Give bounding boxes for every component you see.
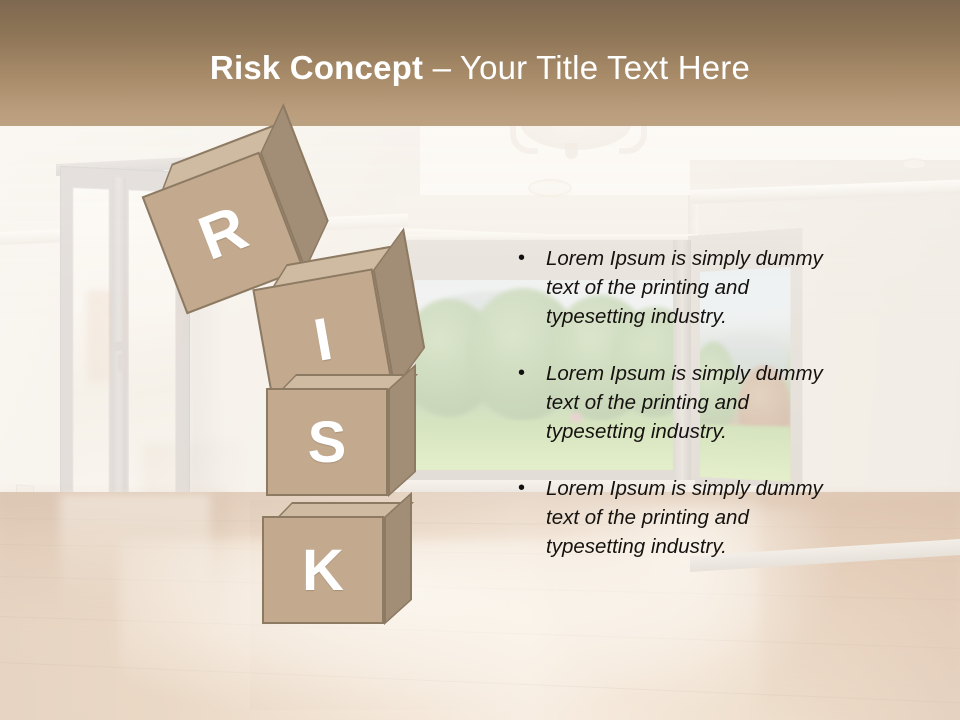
bullet-marker-icon: • — [512, 359, 546, 388]
cube-k-side-face — [384, 492, 412, 625]
cube-s-side-face — [388, 364, 416, 497]
bullet-text: Lorem Ipsum is simply dummy text of the … — [546, 359, 852, 446]
slide: Risk Concept – Your Title Text Here R I … — [0, 0, 960, 720]
bullet-text: Lorem Ipsum is simply dummy text of the … — [546, 244, 852, 331]
bullet-text: Lorem Ipsum is simply dummy text of the … — [546, 474, 852, 561]
cube-k: K — [262, 516, 384, 624]
bullet-list: • Lorem Ipsum is simply dummy text of th… — [512, 244, 852, 589]
list-item: • Lorem Ipsum is simply dummy text of th… — [512, 244, 852, 331]
list-item: • Lorem Ipsum is simply dummy text of th… — [512, 474, 852, 561]
bullet-marker-icon: • — [512, 244, 546, 273]
list-item: • Lorem Ipsum is simply dummy text of th… — [512, 359, 852, 446]
cube-k-letter: K — [262, 516, 384, 624]
cube-s: S — [266, 388, 388, 496]
cube-s-letter: S — [266, 388, 388, 496]
bullet-marker-icon: • — [512, 474, 546, 503]
